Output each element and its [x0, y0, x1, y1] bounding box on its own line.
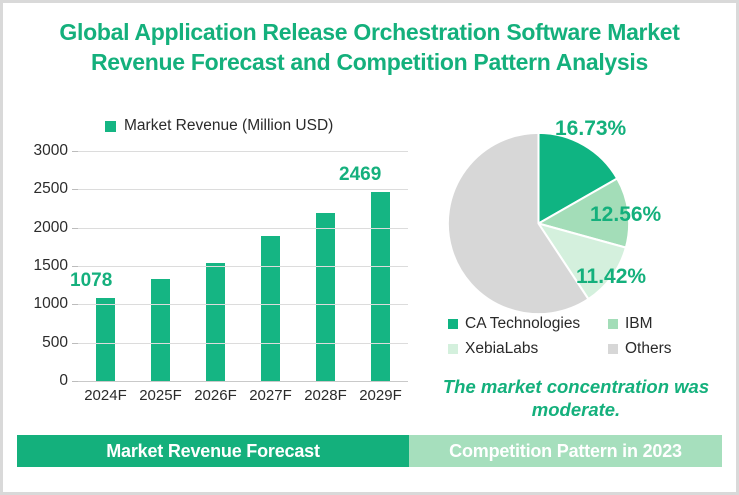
bar-data-label-2029F: 2469 — [339, 164, 381, 186]
pie-legend-label: CA Technologies — [465, 315, 580, 333]
footer-tab-market-revenue-forecast[interactable]: Market Revenue Forecast — [17, 435, 409, 467]
infographic-canvas: Global Application Release Orchestration… — [0, 0, 739, 495]
pie-chart-legend: CA TechnologiesIBMXebiaLabsOthers — [448, 315, 728, 358]
pie-legend-item-ca-technologies[interactable]: CA Technologies — [448, 315, 608, 333]
pie-legend-label: IBM — [625, 315, 653, 333]
gridline — [78, 228, 408, 229]
square-marker-icon — [105, 121, 116, 132]
footer-bar-group: Market Revenue Forecast Competition Patt… — [17, 435, 722, 467]
page-title: Global Application Release Orchestration… — [17, 17, 722, 77]
bar-2027F[interactable] — [261, 236, 280, 381]
y-axis-tick-mark — [72, 304, 78, 305]
pie-value-label-xebialabs: 11.42% — [576, 265, 646, 289]
x-axis-tick-label-2025F: 2025F — [133, 387, 188, 404]
title-line-2: Revenue Forecast and Competition Pattern… — [17, 47, 722, 77]
y-axis-tick-mark — [72, 266, 78, 267]
gridline — [78, 304, 408, 305]
footer-right-label: Competition Pattern in 2023 — [449, 441, 682, 462]
y-axis-tick-label: 1000 — [6, 295, 68, 313]
bar-data-label-2024F: 1078 — [70, 270, 112, 292]
x-axis-tick-label-2027F: 2027F — [243, 387, 298, 404]
y-axis-tick-mark — [72, 189, 78, 190]
pie-legend-item-others[interactable]: Others — [608, 340, 718, 358]
pie-legend-item-ibm[interactable]: IBM — [608, 315, 718, 333]
pie-chart-annotation: The market concentration was moderate. — [426, 375, 726, 421]
pie-chart-panel: 16.73% 12.56% 11.42% CA TechnologiesIBMX… — [418, 103, 730, 423]
bar-2024F[interactable] — [96, 298, 115, 381]
y-axis-tick-mark — [72, 228, 78, 229]
bar-chart-plot-area: 10782469 050010001500200025003000 — [78, 151, 408, 381]
x-axis-tick-label-2029F: 2029F — [353, 387, 408, 404]
square-marker-icon — [608, 344, 618, 354]
bar-2029F[interactable] — [371, 192, 390, 381]
y-axis-tick-label: 1500 — [6, 257, 68, 275]
bar-2025F[interactable] — [151, 279, 170, 381]
bar-chart-panel: Market Revenue (Million USD) 10782469 05… — [15, 103, 410, 423]
x-axis-tick-label-2024F: 2024F — [78, 387, 133, 404]
bar-legend-label: Market Revenue (Million USD) — [124, 117, 333, 135]
footer-tab-competition-pattern[interactable]: Competition Pattern in 2023 — [409, 435, 722, 467]
y-axis-tick-mark — [72, 151, 78, 152]
pie-value-label-ibm: 12.56% — [590, 203, 661, 227]
x-axis-tick-label-2028F: 2028F — [298, 387, 353, 404]
pie-legend-item-xebialabs[interactable]: XebiaLabs — [448, 340, 608, 358]
bar-2028F[interactable] — [316, 213, 335, 381]
footer-left-label: Market Revenue Forecast — [106, 441, 320, 462]
x-axis-line — [73, 381, 408, 382]
y-axis-tick-label: 3000 — [6, 142, 68, 160]
y-axis-tick-mark — [72, 343, 78, 344]
title-line-1: Global Application Release Orchestration… — [17, 17, 722, 47]
y-axis-tick-label: 2000 — [6, 219, 68, 237]
bar-2026F[interactable] — [206, 263, 225, 381]
y-axis-tick-label: 0 — [6, 372, 68, 390]
gridline — [78, 343, 408, 344]
gridline — [78, 189, 408, 190]
pie-legend-label: Others — [625, 340, 672, 358]
pie-value-label-ca-technologies: 16.73% — [555, 117, 626, 141]
square-marker-icon — [448, 344, 458, 354]
x-axis-tick-labels: 2024F2025F2026F2027F2028F2029F — [78, 387, 408, 404]
pie-legend-label: XebiaLabs — [465, 340, 538, 358]
gridline — [78, 266, 408, 267]
y-axis-tick-label: 500 — [6, 334, 68, 352]
x-axis-tick-label-2026F: 2026F — [188, 387, 243, 404]
square-marker-icon — [448, 319, 458, 329]
gridline — [78, 151, 408, 152]
y-axis-tick-mark — [72, 381, 78, 382]
square-marker-icon — [608, 319, 618, 329]
bar-chart-legend: Market Revenue (Million USD) — [105, 117, 333, 135]
y-axis-tick-label: 2500 — [6, 180, 68, 198]
